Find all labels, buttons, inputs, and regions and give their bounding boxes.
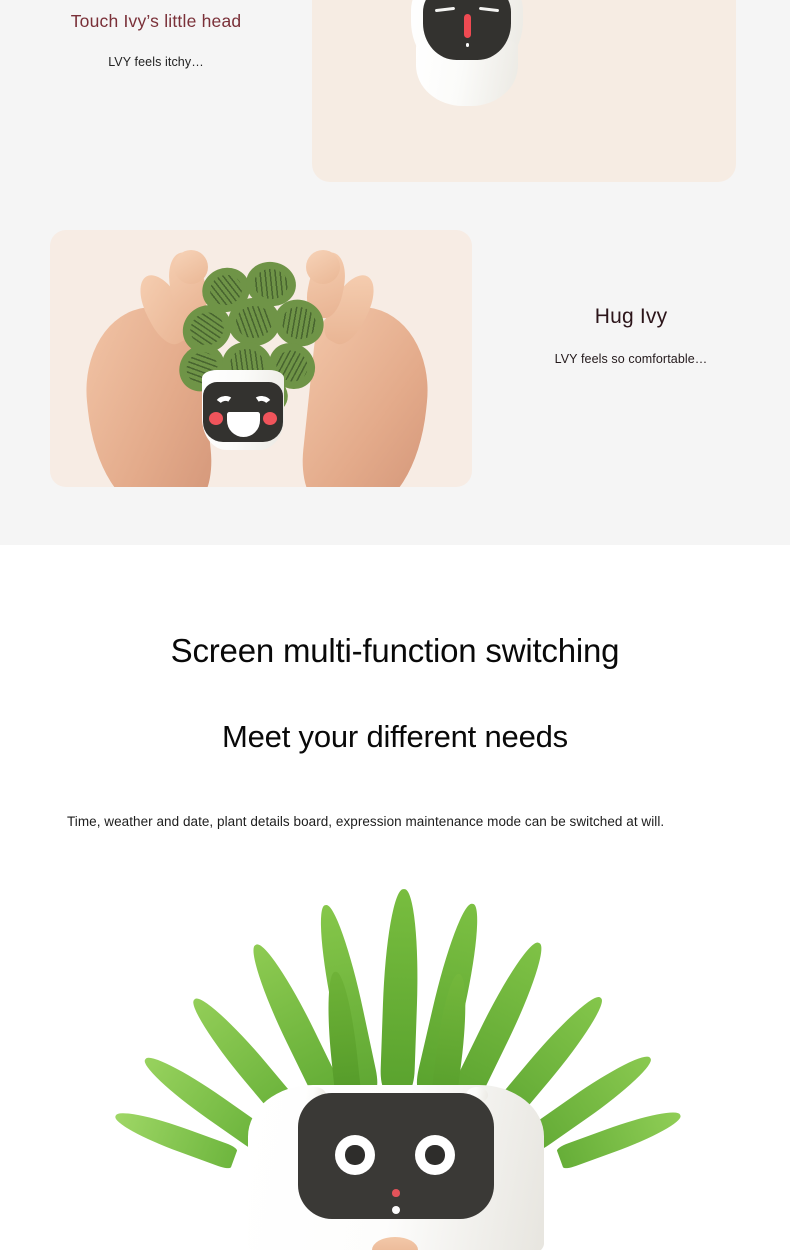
feature-touch-head-text: Touch Ivy’s little head LVY feels itchy…	[0, 10, 312, 69]
fern-planter-illustration	[0, 875, 790, 1250]
planter-screen	[298, 1093, 494, 1219]
closed-eye-icon	[479, 7, 499, 12]
cheek-blush-icon	[263, 412, 277, 425]
screen-section-heading-primary: Screen multi-function switching	[0, 632, 790, 670]
feature-touch-head-image-panel	[312, 0, 736, 182]
feature-hug-ivy-text: Hug Ivy LVY feels so comfortable…	[472, 305, 790, 366]
feature-hug-ivy-subtitle: LVY feels so comfortable…	[472, 352, 790, 366]
leaf-icon	[380, 889, 421, 1090]
nose-icon	[392, 1189, 400, 1197]
right-fingertip	[306, 250, 340, 284]
interaction-showcase-section: Touch Ivy’s little head LVY feels itchy…	[0, 0, 790, 545]
screen-switching-section: Screen multi-function switching Meet you…	[0, 545, 790, 1250]
ring-eye-icon	[335, 1135, 375, 1175]
left-fingertip	[174, 250, 208, 284]
product-detail-page: Touch Ivy’s little head LVY feels itchy…	[0, 0, 790, 1250]
screen-section-description: Time, weather and date, plant details bo…	[67, 813, 733, 831]
planter-closed-eyes-illustration	[312, 0, 736, 182]
closed-eye-icon	[435, 7, 455, 12]
feature-hug-ivy-image-panel	[50, 230, 472, 487]
screen-section-image-panel	[0, 875, 790, 1250]
indicator-dot-icon	[392, 1206, 400, 1214]
screen-section-heading-secondary: Meet your different needs	[0, 719, 790, 755]
feature-touch-head-title: Touch Ivy’s little head	[0, 10, 312, 33]
ring-eye-icon	[415, 1135, 455, 1175]
feature-hug-ivy-title: Hug Ivy	[472, 305, 790, 329]
planter-screen	[203, 382, 283, 442]
feature-touch-head-subtitle: LVY feels itchy…	[0, 55, 312, 69]
leaf-icon	[549, 0, 603, 3]
planter-screen	[423, 0, 511, 60]
open-smile-mouth-icon	[227, 412, 260, 437]
hands-holding-planter-illustration	[50, 230, 472, 487]
mouth-icon	[464, 14, 471, 38]
indicator-dot-icon	[466, 43, 470, 47]
cheek-blush-icon	[209, 412, 223, 425]
